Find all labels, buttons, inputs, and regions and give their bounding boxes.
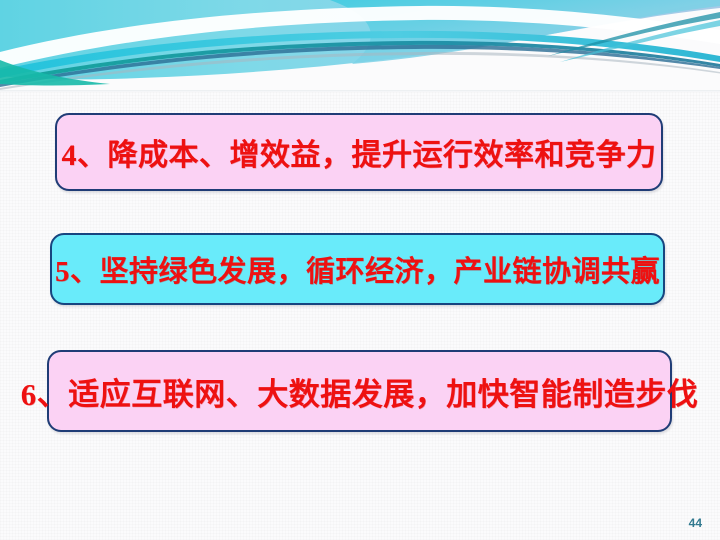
content-box-4-text: 4、降成本、增效益，提升运行效率和竞争力 (62, 130, 657, 174)
content-box-6-text: 6、适应互联网、大数据发展，加快智能制造步伐 (21, 369, 699, 414)
decorative-wave-banner (0, 0, 720, 92)
page-number: 44 (689, 516, 702, 530)
content-box-6[interactable]: 6、适应互联网、大数据发展，加快智能制造步伐 (47, 350, 672, 432)
content-box-5[interactable]: 5、坚持绿色发展，循环经济，产业链协调共赢 (50, 233, 665, 305)
presentation-slide: 4、降成本、增效益，提升运行效率和竞争力 5、坚持绿色发展，循环经济，产业链协调… (0, 0, 720, 540)
content-box-4[interactable]: 4、降成本、增效益，提升运行效率和竞争力 (55, 113, 663, 191)
content-box-5-text: 5、坚持绿色发展，循环经济，产业链协调共赢 (55, 248, 660, 290)
